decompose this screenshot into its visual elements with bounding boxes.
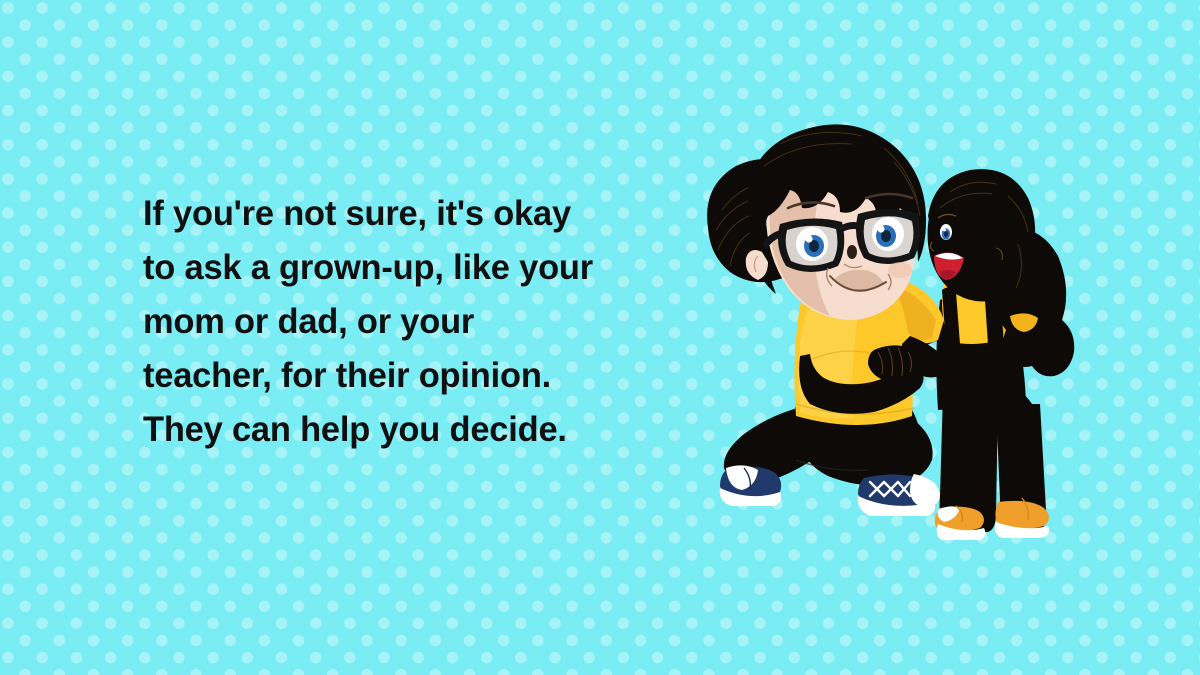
boy-figure	[707, 124, 946, 516]
boy-front-shoe	[858, 474, 940, 516]
caption-line-4: teacher, for their opinion.	[143, 348, 599, 402]
boy-back-shoe	[720, 465, 781, 506]
caption-line-5: They can help you decide.	[143, 402, 599, 456]
caption-text-block: If you're not sure, it's okay to ask a g…	[143, 186, 613, 456]
caption-line-1: If you're not sure, it's okay	[143, 186, 599, 240]
boy-nose	[847, 245, 857, 259]
girl-eye-highlight	[943, 229, 946, 232]
caption-line-3: mom or dad, or your	[143, 294, 599, 348]
girl-front-shoe	[935, 506, 986, 540]
caption-line-2: to ask a grown-up, like your	[143, 240, 599, 294]
boy-cheek-blush	[888, 262, 912, 278]
slide-canvas: If you're not sure, it's okay to ask a g…	[0, 0, 1200, 675]
boy-eye-left-highlight	[805, 235, 812, 242]
boy-eye-right-highlight	[877, 225, 884, 232]
girl-eye-pupil	[944, 231, 948, 237]
children-illustration	[688, 104, 1088, 584]
